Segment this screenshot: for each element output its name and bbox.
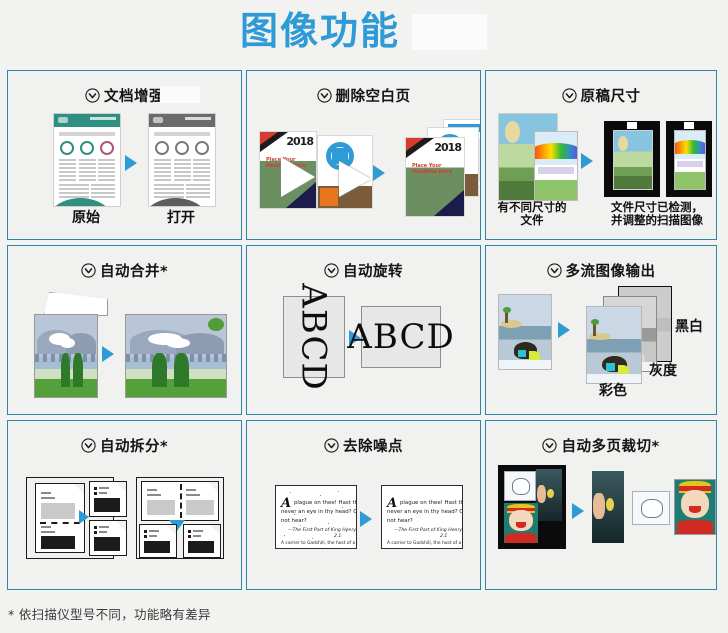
chevron-down-circle-icon xyxy=(81,438,96,453)
panel-illustration xyxy=(8,455,241,585)
document-original-thumb xyxy=(53,113,121,207)
scan-frame-2 xyxy=(666,121,712,197)
panel-auto-merge[interactable]: 自动合并* xyxy=(7,245,242,415)
chevron-down-circle-icon xyxy=(85,88,100,103)
text-source: —The First Part of King Henry the Fourth xyxy=(394,528,463,533)
arrow-right-icon xyxy=(581,153,593,169)
panel-illustration: ABCD ABCD xyxy=(247,280,480,410)
panel-header: 多流图像输出 xyxy=(486,260,716,281)
cropped-photo-2 xyxy=(632,491,670,525)
image-functions-page: 图像功能 文档增强 xyxy=(0,0,728,633)
text-line-1: plague on thee! Hast thou xyxy=(294,500,357,506)
caption-enhanced: 打开 xyxy=(148,211,214,226)
source-photo xyxy=(498,294,552,370)
poster-year: 2018 xyxy=(434,141,461,154)
panel-illustration: 原始 打开 xyxy=(8,105,241,235)
panel-title: 原稿尺寸 xyxy=(581,85,641,106)
panel-title: 自动拆分* xyxy=(100,435,168,456)
page-title: 图像功能 xyxy=(240,8,400,54)
panel-illustration: 彩色 灰度 黑白 xyxy=(486,280,716,410)
text-act: 2.1 xyxy=(334,534,341,539)
panel-illustration: 2018 Place Your Headline Here 2018 Place… xyxy=(247,105,480,235)
page-header: 图像功能 xyxy=(0,0,728,63)
poster-year: 2018 xyxy=(286,135,313,148)
text-line-2: never an eye in thy head? Canst xyxy=(281,509,357,515)
arrow-right-icon xyxy=(373,165,385,181)
title-highlight-overlay xyxy=(160,86,200,103)
document-enhanced-thumb xyxy=(148,113,216,207)
chevron-down-circle-icon xyxy=(542,438,557,453)
panel-header: 自动合并* xyxy=(8,260,241,281)
cropped-photo-1 xyxy=(592,471,624,543)
scan-frame-1 xyxy=(604,121,660,197)
text-footnote: A carrier to Gadshill, the host of a tav… xyxy=(281,541,357,546)
text-line-2: never an eye in thy head? Canst xyxy=(387,509,463,515)
panel-title: 删除空白页 xyxy=(336,85,411,106)
panel-title: 自动多页裁切* xyxy=(561,435,659,456)
noisy-text-card: A plague on thee! Hast thou never an eye… xyxy=(275,485,357,549)
text-footnote: A carrier to Gadshill, the host of a tav… xyxy=(387,541,463,546)
poster-headline: Place Your Headline Here xyxy=(412,163,464,175)
panel-illustration: A plague on thee! Hast thou never an eye… xyxy=(247,455,480,585)
panel-header: 原稿尺寸 xyxy=(486,85,716,106)
chevron-down-circle-icon xyxy=(562,88,577,103)
panel-header: 自动旋转 xyxy=(247,260,480,281)
caption-mixed-sizes-2: 文件 xyxy=(492,214,572,227)
split-group-vertical xyxy=(26,477,114,559)
panel-illustration xyxy=(8,280,241,410)
output-color xyxy=(586,306,642,384)
panel-original-size[interactable]: 原稿尺寸 有不同尺寸的 文件 文件尺寸已检测， xyxy=(485,70,717,240)
merged-photo-left xyxy=(34,314,98,398)
panel-title: 去除噪点 xyxy=(343,435,403,456)
footnote: * 依扫描仪型号不同，功能略有差异 xyxy=(8,604,211,623)
chevron-down-circle-icon xyxy=(547,263,562,278)
panel-title: 自动合并* xyxy=(100,260,168,281)
caption-detected-2: 并调整的扫描图像 xyxy=(598,214,716,227)
poster-result-front: 2018 Place Your Headline Here xyxy=(405,137,465,217)
chevron-down-circle-icon xyxy=(324,438,339,453)
panel-auto-multi-crop[interactable]: 自动多页裁切* xyxy=(485,420,717,590)
panel-header: 删除空白页 xyxy=(247,85,480,106)
panel-header: 去除噪点 xyxy=(247,435,480,456)
panel-title: 多流图像输出 xyxy=(566,260,656,281)
text-line-3: not hear? xyxy=(387,518,413,524)
arrow-right-icon xyxy=(558,322,570,338)
page-fold-top xyxy=(44,292,108,316)
arrow-right-icon xyxy=(360,511,372,527)
panel-document-enhancement[interactable]: 文档增强 原始 打开 xyxy=(7,70,242,240)
text-line-1: plague on thee! Hast thou xyxy=(400,500,463,506)
scan-bed xyxy=(498,465,566,549)
split-group-horizontal xyxy=(136,477,224,559)
panel-title: 自动旋转 xyxy=(343,260,403,281)
merged-photo-result xyxy=(125,314,227,398)
feature-grid: 文档增强 原始 打开 xyxy=(7,70,721,595)
rotated-page: ABCD xyxy=(283,296,345,378)
caption-grayscale: 灰度 xyxy=(636,364,690,379)
panel-remove-noise[interactable]: 去除噪点 A plague on thee! Hast thou never a… xyxy=(246,420,481,590)
page-fold-overlay xyxy=(281,157,315,197)
panel-header: 自动多页裁切* xyxy=(486,435,716,456)
arrow-right-icon xyxy=(125,155,137,171)
panel-illustration xyxy=(486,455,716,585)
cropped-photo-3 xyxy=(674,479,716,535)
chevron-down-circle-icon xyxy=(324,263,339,278)
panel-auto-rotate[interactable]: 自动旋转 ABCD ABCD xyxy=(246,245,481,415)
caption-blackwhite: 黑白 xyxy=(662,320,716,335)
text-act: 2.1 xyxy=(440,534,447,539)
text-line-3: not hear? xyxy=(281,518,307,524)
chevron-down-circle-icon xyxy=(81,263,96,278)
corrected-sample-text: ABCD xyxy=(347,317,454,357)
chevron-down-circle-icon xyxy=(317,88,332,103)
rainbow-photo xyxy=(534,131,578,201)
panel-multi-stream-output[interactable]: 多流图像输出 彩色 灰度 黑白 xyxy=(485,245,717,415)
title-highlight-overlay xyxy=(412,14,487,50)
caption-original: 原始 xyxy=(53,211,119,226)
panel-header: 自动拆分* xyxy=(8,435,241,456)
page-fold-overlay xyxy=(339,161,371,197)
corrected-page: ABCD xyxy=(361,306,441,368)
clean-text-card: A plague on thee! Hast thou never an eye… xyxy=(381,485,463,549)
panel-header: 文档增强 xyxy=(8,85,241,106)
panel-auto-split[interactable]: 自动拆分* xyxy=(7,420,242,590)
caption-color: 彩色 xyxy=(586,384,640,399)
arrow-right-icon xyxy=(572,503,584,519)
rotated-sample-text: ABCD xyxy=(294,283,334,390)
panel-illustration: 有不同尺寸的 文件 文件尺寸已检测， 并调整的扫描图像 xyxy=(486,105,716,235)
panel-title: 文档增强 xyxy=(104,85,164,106)
panel-delete-blank-page[interactable]: 删除空白页 2018 Place Your Headline Here xyxy=(246,70,481,240)
arrow-right-icon xyxy=(102,346,114,362)
